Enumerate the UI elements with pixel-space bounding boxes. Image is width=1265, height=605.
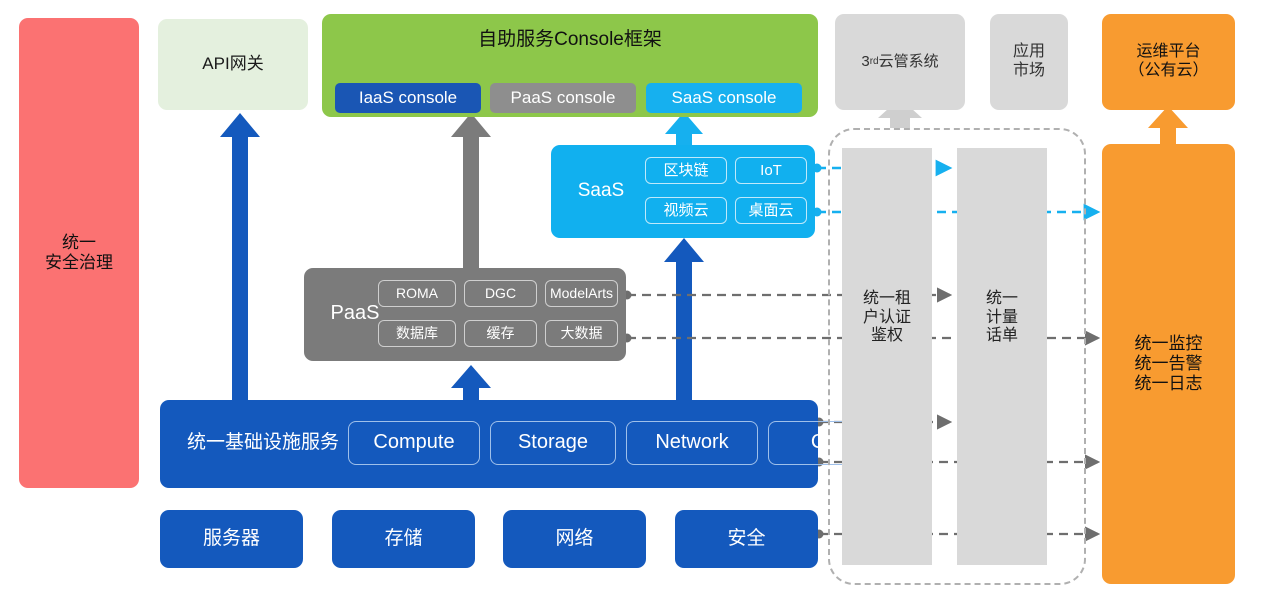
saas-chip-video-cloud[interactable]: 视频云 <box>645 197 727 224</box>
arrow-api-gateway-up <box>220 113 260 400</box>
unified-monitoring-alarm-log-panel[interactable]: 统一监控 统一告警 统一日志 <box>1102 144 1235 584</box>
paas-chip-database[interactable]: 数据库 <box>378 320 456 347</box>
bottom-box-server[interactable]: 服务器 <box>160 510 303 568</box>
ops-platform-public-cloud-box[interactable]: 运维平台 （公有云） <box>1102 14 1235 110</box>
bottom-box-storage[interactable]: 存储 <box>332 510 475 568</box>
paas-chip-bigdata[interactable]: 大数据 <box>545 320 618 347</box>
bottom-box-network[interactable]: 网络 <box>503 510 646 568</box>
saas-console-chip[interactable]: SaaS console <box>646 83 802 113</box>
saas-chip-iot[interactable]: IoT <box>735 157 807 184</box>
api-gateway-box[interactable]: API网关 <box>158 19 308 110</box>
saas-layer-label: SaaS <box>565 177 637 205</box>
cloud-mgmt-superscript: rd <box>870 56 879 68</box>
self-service-console-framework[interactable]: 自助服务Console框架 IaaS console PaaS console … <box>322 14 818 117</box>
unified-infrastructure-service-layer[interactable]: 统一基础设施服务 Compute Storage Network CCE <box>160 400 818 488</box>
paas-chip-dgc[interactable]: DGC <box>464 280 537 307</box>
unified-security-governance-panel[interactable]: 统一 安全治理 <box>19 18 139 488</box>
bottom-box-security[interactable]: 安全 <box>675 510 818 568</box>
cloud-mgmt-suffix: 云管系统 <box>879 53 939 71</box>
cloud-mgmt-prefix: 3 <box>861 53 869 71</box>
app-market-box[interactable]: 应用 市场 <box>990 14 1068 110</box>
infra-chip-network[interactable]: Network <box>626 421 758 465</box>
paas-layer[interactable]: PaaS ROMA DGC ModelArts 数据库 缓存 大数据 <box>304 268 626 361</box>
arrow-paas-to-console <box>451 113 491 268</box>
infrastructure-label: 统一基础设施服务 <box>177 426 349 460</box>
unified-tenant-auth-label: 统一租 户认证 鉴权 <box>842 278 932 358</box>
arrow-infra-to-saas <box>664 238 704 400</box>
paas-chip-roma[interactable]: ROMA <box>378 280 456 307</box>
paas-chip-modelarts[interactable]: ModelArts <box>545 280 618 307</box>
arrow-infra-to-paas <box>451 365 491 400</box>
third-party-cloud-management-box[interactable]: 3rd云管系统 <box>835 14 965 110</box>
saas-layer[interactable]: SaaS 区块链 IoT 视频云 桌面云 <box>551 145 815 238</box>
arrow-ops-up <box>1148 106 1188 144</box>
saas-chip-blockchain[interactable]: 区块链 <box>645 157 727 184</box>
iaas-console-chip[interactable]: IaaS console <box>335 83 481 113</box>
infra-chip-compute[interactable]: Compute <box>348 421 480 465</box>
unified-metering-label: 统一 计量 话单 <box>957 278 1047 358</box>
console-framework-title: 自助服务Console框架 <box>322 25 818 55</box>
infra-chip-storage[interactable]: Storage <box>490 421 616 465</box>
paas-chip-cache[interactable]: 缓存 <box>464 320 537 347</box>
saas-chip-desktop-cloud[interactable]: 桌面云 <box>735 197 807 224</box>
paas-console-chip[interactable]: PaaS console <box>490 83 636 113</box>
